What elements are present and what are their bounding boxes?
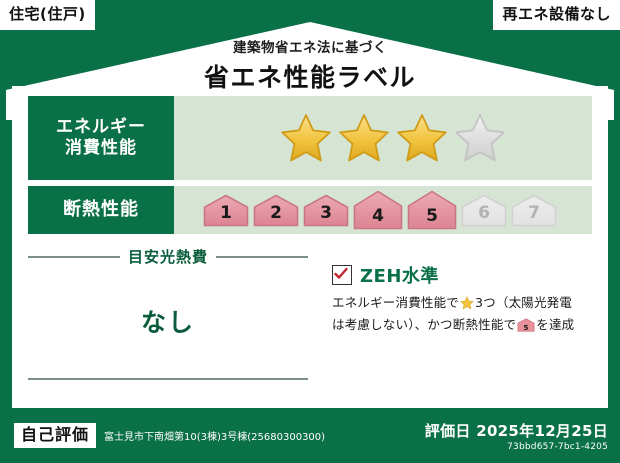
- star-empty-icon: [454, 112, 506, 164]
- label-card: エネルギー 消費性能 断熱性能 1234567 目安光熱費 なし: [12, 86, 608, 408]
- star-rating: [280, 112, 506, 164]
- property-address: 富士見市下南畑第10(3棟)3号棟(25680300300): [104, 428, 325, 443]
- insulation-level-number: 6: [461, 205, 507, 222]
- insulation-performance-row: 断熱性能 1234567: [28, 186, 592, 234]
- insulation-level-house: 7: [511, 194, 557, 227]
- insulation-level-house: 2: [253, 194, 299, 227]
- footer-right: 評価日 2025年12月25日 73bbd657-7bc1-4205: [425, 420, 608, 452]
- insulation-level-house: 1: [203, 194, 249, 227]
- utility-cost-section: 目安光熱費 なし: [12, 244, 324, 394]
- insulation-level-number: 3: [303, 205, 349, 222]
- self-evaluation-badge: 自己評価: [14, 423, 96, 447]
- energy-label-line2: 消費性能: [56, 138, 146, 159]
- zeh-section: ZEH水準 エネルギー消費性能で3つ（太陽光発電 は考慮しない）、かつ断熱性能で…: [324, 244, 608, 394]
- energy-performance-label: エネルギー 消費性能: [28, 96, 174, 180]
- energy-performance-body: [174, 96, 592, 180]
- insulation-level-number: 2: [253, 205, 299, 222]
- rule-left: [28, 256, 120, 258]
- star-filled-icon: [280, 112, 332, 164]
- zeh-desc-part2: は考慮しない）、かつ断熱性能で: [332, 317, 516, 332]
- insulation-performance-body: 1234567: [174, 186, 592, 234]
- insulation-level-house: 6: [461, 194, 507, 227]
- house-level-icon: 5: [517, 318, 535, 337]
- header-block: 建築物省エネ法に基づく 省エネ性能ラベル: [0, 36, 620, 94]
- insulation-level-number: 7: [511, 205, 557, 222]
- svg-text:5: 5: [524, 323, 529, 332]
- star-filled-icon: [338, 112, 390, 164]
- zeh-description: エネルギー消費性能で3つ（太陽光発電 は考慮しない）、かつ断熱性能で5を達成: [332, 293, 594, 338]
- insulation-level-number: 5: [407, 208, 457, 225]
- renewable-energy-tag: 再エネ設備なし: [493, 0, 620, 30]
- zeh-desc-part1: エネルギー消費性能で: [332, 295, 459, 310]
- utility-cost-title: 目安光熱費: [128, 246, 208, 267]
- header-subtitle: 建築物省エネ法に基づく: [0, 36, 620, 56]
- insulation-level-number: 1: [203, 205, 249, 222]
- star-icon: [460, 296, 474, 315]
- zeh-desc-star-count: 3つ（太陽光発電: [475, 295, 572, 310]
- energy-label-line1: エネルギー: [56, 117, 146, 138]
- insulation-level-house: 4: [353, 190, 403, 230]
- utility-cost-value: なし: [28, 303, 308, 339]
- zeh-desc-part3: を達成: [536, 317, 574, 332]
- star-filled-icon: [396, 112, 448, 164]
- rule-right: [216, 256, 308, 258]
- zeh-header: ZEH水準: [332, 262, 594, 288]
- zeh-title: ZEH水準: [360, 262, 439, 288]
- check-icon: [334, 267, 348, 281]
- insulation-level-house: 3: [303, 194, 349, 227]
- utility-cost-header: 目安光熱費: [28, 246, 308, 267]
- insulation-performance-label: 断熱性能: [28, 186, 174, 234]
- insulation-level-house: 5: [407, 190, 457, 230]
- zeh-checkbox[interactable]: [332, 265, 352, 285]
- lower-section: 目安光熱費 なし ZEH水準 エネルギー消費性能で3つ（太陽光発電 は考慮しない…: [12, 244, 608, 394]
- insulation-level-number: 4: [353, 208, 403, 225]
- energy-performance-row: エネルギー 消費性能: [28, 96, 592, 180]
- page-title: 省エネ性能ラベル: [0, 58, 620, 94]
- footer: 自己評価 富士見市下南畑第10(3棟)3号棟(25680300300) 評価日 …: [0, 408, 620, 463]
- label-uid: 73bbd657-7bc1-4205: [425, 442, 608, 452]
- evaluation-date: 評価日 2025年12月25日: [425, 420, 608, 441]
- building-type-tag: 住宅(住戸): [0, 0, 95, 30]
- utility-cost-bottom-rule: [28, 378, 308, 380]
